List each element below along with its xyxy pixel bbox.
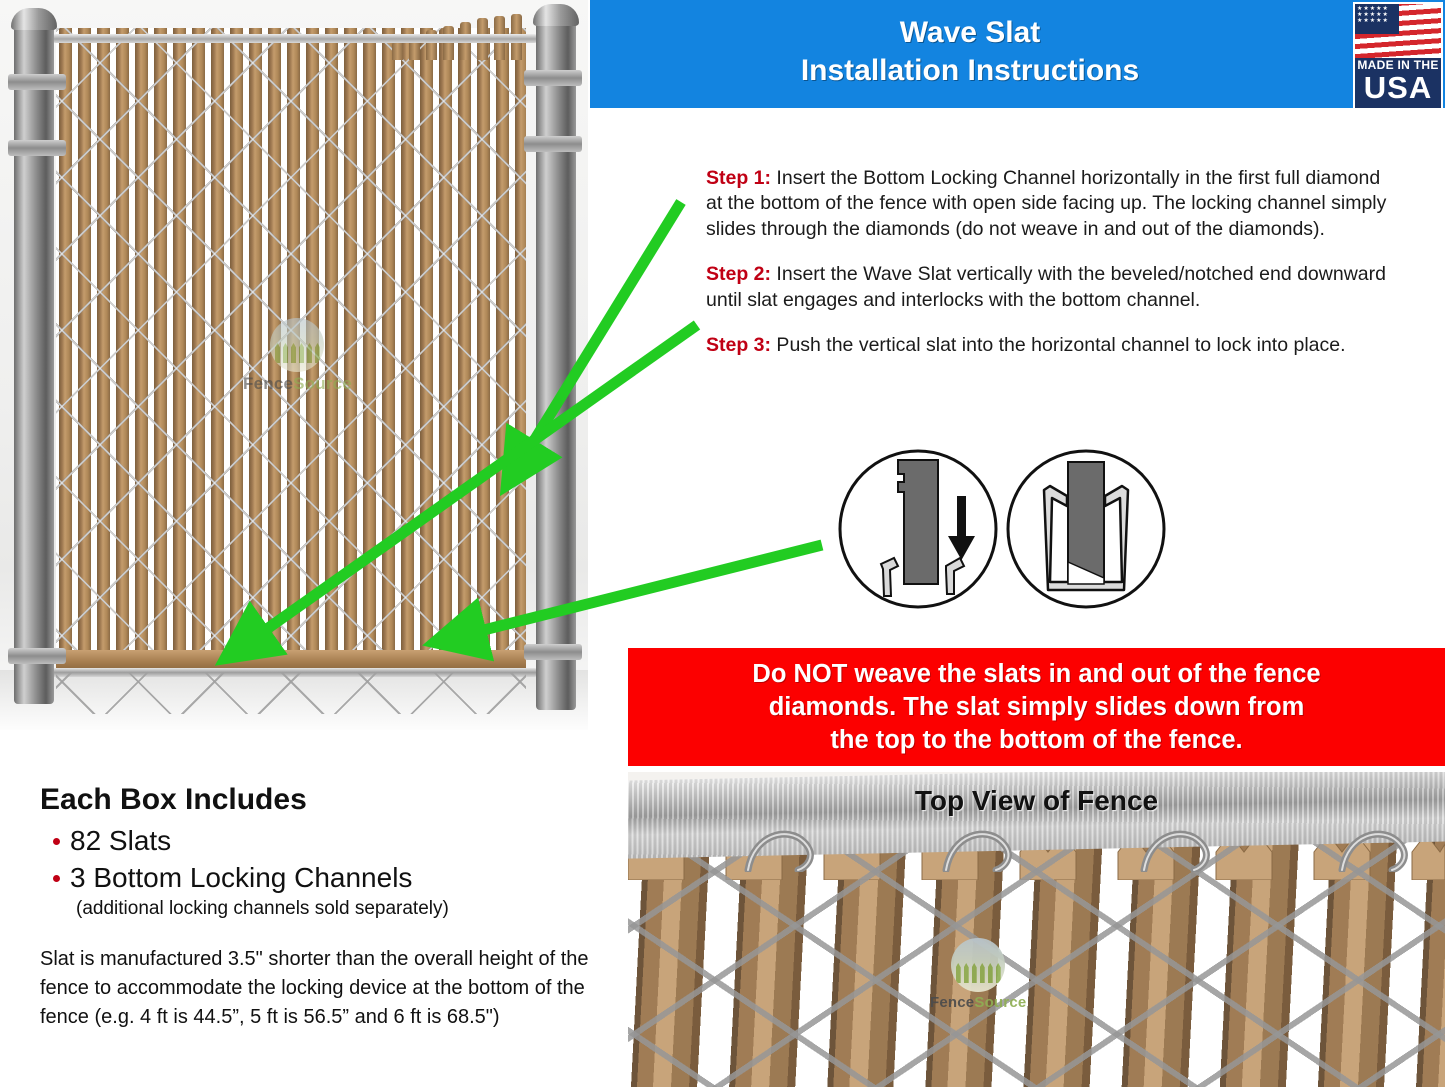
- slat-locked-in-channel-diagram: [1008, 451, 1164, 607]
- step-3-label: Step 3:: [706, 334, 771, 356]
- made-in-usa-badge: ★★★★★★★★★★★★★★★ MADE IN THE USA: [1353, 2, 1443, 110]
- step-2-text: Insert the Wave Slat vertically with the…: [706, 263, 1386, 311]
- post-band-left-mid: [8, 140, 66, 156]
- post-band-right-mid: [524, 136, 582, 152]
- post-cap-right: [533, 4, 579, 26]
- step-3: Step 3: Push the vertical slat into the …: [706, 333, 1396, 359]
- usa-flag-icon: ★★★★★★★★★★★★★★★: [1355, 4, 1441, 58]
- slat-above-channel-diagram: [840, 451, 996, 607]
- fence-slat-panel: [56, 28, 526, 668]
- step-3-text: Push the vertical slat into the horizont…: [771, 334, 1346, 356]
- post-cap-left: [11, 8, 57, 30]
- top-view-wire-ties: [628, 812, 1445, 872]
- bullet-slats: 82 Slats: [40, 822, 596, 859]
- page-title: Wave Slat Installation Instructions: [590, 14, 1350, 90]
- each-box-heading: Each Box Includes: [40, 782, 596, 818]
- bottom-locking-channel: [56, 650, 526, 670]
- locking-mechanism-diagrams: [836, 444, 1186, 614]
- chain-link-mesh-highlight: [56, 28, 526, 668]
- page-title-line1: Wave Slat: [590, 14, 1350, 52]
- fence-top-view-photo: Top View of Fence FenceSource: [628, 772, 1445, 1087]
- warning-line-3: the top to the bottom of the fence.: [636, 724, 1437, 757]
- warning-line-2: diamonds. The slat simply slides down fr…: [636, 691, 1437, 724]
- page-title-line2: Installation Instructions: [590, 52, 1350, 90]
- steps-list: Step 1: Insert the Bottom Locking Channe…: [706, 146, 1396, 359]
- bullet-locking-channels: 3 Bottom Locking Channels: [40, 859, 596, 896]
- fence-front-view-photo: FenceSource: [0, 0, 588, 730]
- page-header: Wave Slat Installation Instructions ★★★★…: [590, 0, 1445, 108]
- post-band-right-top: [524, 70, 582, 86]
- step-1: Step 1: Insert the Bottom Locking Channe…: [706, 166, 1396, 243]
- top-view-label: Top View of Fence: [628, 785, 1445, 817]
- step-1-label: Step 1:: [706, 167, 771, 189]
- warning-text: Do NOT weave the slats in and out of the…: [636, 658, 1437, 757]
- fence-post-left: [14, 14, 54, 704]
- top-rail: [52, 34, 538, 43]
- chain-link-mesh-below-channel: [56, 672, 526, 714]
- usa-label: USA: [1355, 70, 1441, 106]
- step-2: Step 2: Insert the Wave Slat vertically …: [706, 262, 1396, 313]
- post-band-right-bottom: [524, 644, 582, 660]
- each-box-bullet-list: 82 Slats 3 Bottom Locking Channels: [40, 822, 596, 896]
- each-box-includes-section: Each Box Includes 82 Slats 3 Bottom Lock…: [40, 782, 596, 1052]
- warning-line-1: Do NOT weave the slats in and out of the…: [636, 658, 1437, 691]
- warning-banner: Do NOT weave the slats in and out of the…: [628, 648, 1445, 766]
- fence-post-right: [536, 10, 576, 710]
- slat-height-note: Slat is manufactured 3.5" shorter than t…: [40, 945, 596, 1032]
- post-band-left-bottom: [8, 648, 66, 664]
- post-band-left-top: [8, 74, 66, 90]
- step-2-label: Step 2:: [706, 263, 771, 285]
- step-1-text: Insert the Bottom Locking Channel horizo…: [706, 167, 1386, 240]
- locking-channel-note: (additional locking channels sold separa…: [76, 896, 596, 921]
- installation-instructions-page: FenceSource Wave Slat Installation Instr…: [0, 0, 1445, 1087]
